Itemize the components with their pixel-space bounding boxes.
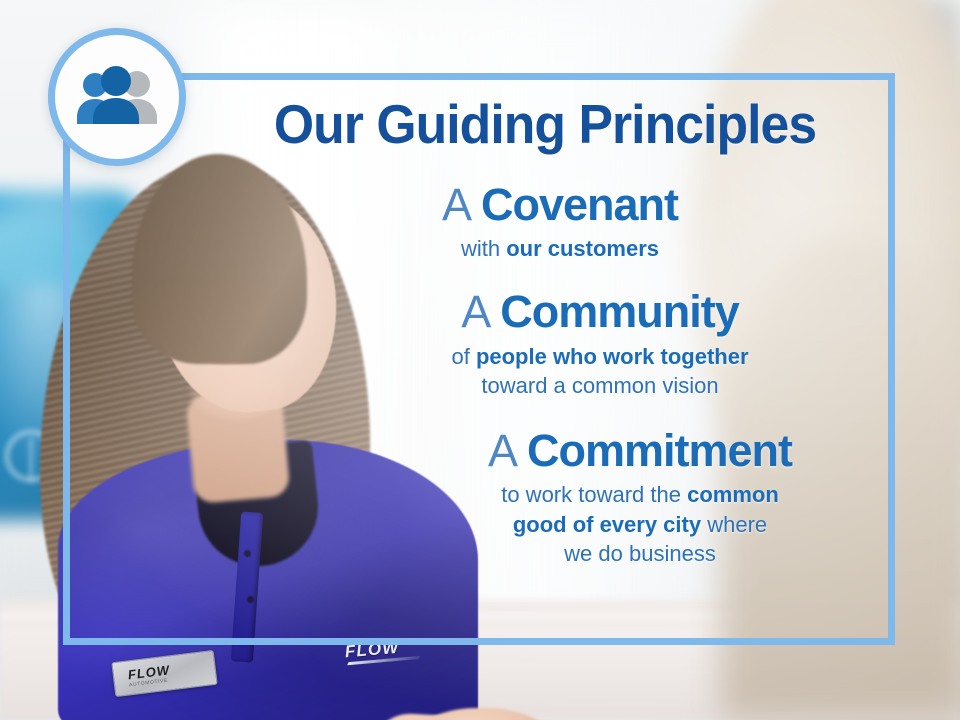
principle-keyword: Covenant (481, 179, 678, 230)
principle-community: A Community of people who work together … (190, 287, 890, 399)
subtext-span: where (701, 512, 767, 537)
subtext-span-bold: good of every city (513, 512, 701, 537)
principle-keyword: Community (500, 286, 739, 337)
guiding-principles-poster: FLOW AUTOMOTIVE FLOW (0, 0, 960, 720)
subtext-span: with (461, 236, 506, 261)
subtext-line: we do business (390, 539, 890, 568)
principle-subtext: of people who work together toward a com… (310, 342, 890, 400)
shirt-button (247, 596, 254, 603)
principle-article: A (442, 179, 481, 230)
principle-article: A (488, 425, 527, 476)
subtext-span: we do business (564, 541, 716, 566)
people-badge (48, 28, 186, 166)
principle-heading: A Covenant (230, 180, 890, 230)
page-title: Our Guiding Principles (230, 96, 860, 154)
subtext-span: of (451, 344, 475, 369)
principle-commitment: A Commitment to work toward the common g… (190, 426, 890, 569)
principle-article: A (461, 286, 500, 337)
subtext-span-bold: people who work together (476, 344, 749, 369)
principle-subtext: with our customers (230, 234, 890, 263)
subtext-line: of people who work together (310, 342, 890, 371)
principles-list: A Covenant with our customers A Communit… (190, 180, 890, 579)
subtext-line: good of every city where (390, 510, 890, 539)
people-group-icon (71, 66, 163, 128)
subtext-line: toward a common vision (310, 371, 890, 400)
subtext-span-bold: our customers (506, 236, 659, 261)
subtext-span-bold: common (687, 482, 779, 507)
principle-covenant: A Covenant with our customers (190, 180, 890, 263)
principle-heading: A Community (310, 287, 890, 337)
subtext-span: toward a common vision (481, 373, 718, 398)
subtext-line: with our customers (230, 234, 890, 263)
principle-heading: A Commitment (390, 426, 890, 476)
principle-subtext: to work toward the common good of every … (390, 480, 890, 568)
subtext-span: to work toward the (501, 482, 687, 507)
subtext-line: to work toward the common (390, 480, 890, 509)
principle-keyword: Commitment (527, 425, 792, 476)
